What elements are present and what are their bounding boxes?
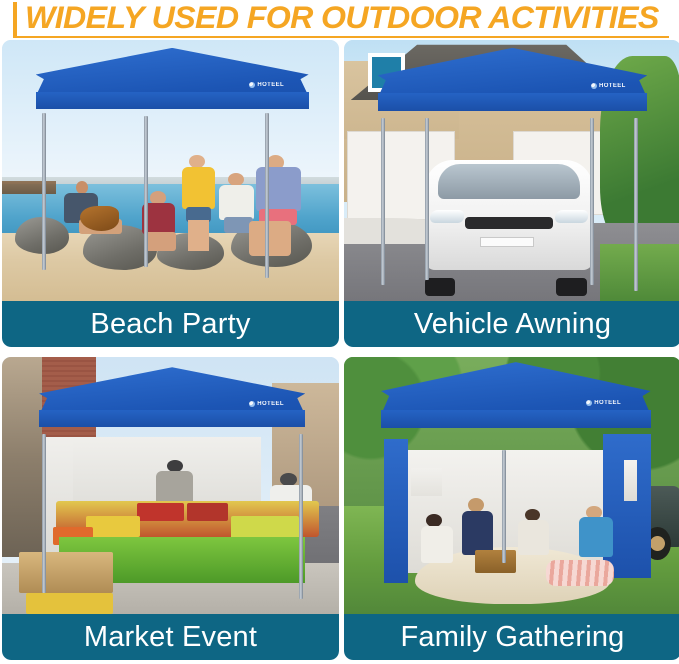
logo-text: HOTEEL <box>599 83 626 89</box>
headlight-left <box>430 210 464 222</box>
canopy-tent: HOTEEL <box>378 48 648 129</box>
page-title: WIDELY USED FOR OUTDOOR ACTIVITIES <box>25 0 659 35</box>
logo-mark-icon <box>586 400 592 406</box>
person-blue-shirt <box>248 155 315 270</box>
brand-logo: HOTEEL <box>586 400 621 406</box>
headlight-right <box>555 210 589 222</box>
brand-logo: HOTEEL <box>249 401 284 407</box>
brand-logo: HOTEEL <box>591 83 626 89</box>
logo-text: HOTEEL <box>594 400 621 406</box>
person-guitarist <box>59 181 133 265</box>
car <box>425 160 594 270</box>
lawn <box>600 244 679 301</box>
front-grille <box>465 217 553 229</box>
logo-text: HOTEEL <box>257 82 284 88</box>
brand-logo: HOTEEL <box>249 82 284 88</box>
canopy-center-pole <box>502 450 506 563</box>
canopy-valance <box>36 92 309 109</box>
canopy-valance <box>39 410 305 427</box>
produce-crate-floor <box>19 552 113 593</box>
canopy-leg <box>381 118 385 285</box>
panel-caption-family-gathering: Family Gathering <box>344 614 679 660</box>
striped-cushion <box>546 560 613 586</box>
canopy-tent: HOTEEL <box>39 367 305 444</box>
person-seated-middle <box>516 509 553 566</box>
panel-caption-market-event: Market Event <box>2 614 339 660</box>
logo-text: HOTEEL <box>257 401 284 407</box>
tire-left <box>425 278 455 296</box>
picnic-basket <box>475 550 515 573</box>
scene-beach-party: HOTEEL <box>2 40 339 301</box>
canopy-sidewall-left <box>384 439 408 583</box>
logo-mark-icon <box>591 83 597 89</box>
panel-vehicle-awning[interactable]: HOTEEL Vehicle Awning <box>344 40 679 347</box>
canopy-leg <box>590 118 594 285</box>
sidewall-zipper-panel <box>624 460 637 501</box>
product-feature-image: WIDELY USED FOR OUTDOOR ACTIVITIES <box>0 0 679 664</box>
license-plate <box>480 237 534 247</box>
panel-grid: HOTEEL Beach Party <box>0 40 679 664</box>
canopy-valance <box>378 93 648 111</box>
stacked-boxes <box>26 593 114 614</box>
canopy-leg <box>634 118 638 290</box>
canopy-leg <box>425 118 429 280</box>
canopy-leg <box>299 434 303 598</box>
logo-mark-icon <box>249 401 255 407</box>
canopy-tent: HOTEEL <box>381 362 651 447</box>
header-divider <box>13 36 669 38</box>
scene-family-gathering: HOTEEL <box>344 357 679 614</box>
canopy-leg <box>42 434 46 593</box>
wooden-pier <box>2 181 56 194</box>
tire-right <box>556 278 586 296</box>
windshield <box>438 164 580 199</box>
canopy-leg <box>265 113 269 277</box>
sidewall-window <box>411 468 441 496</box>
header-accent-bar <box>13 2 17 36</box>
produce-crate <box>86 516 140 537</box>
canopy-valance <box>381 410 651 429</box>
panel-family-gathering[interactable]: HOTEEL Family Gathering <box>344 357 679 660</box>
produce-crate <box>137 503 184 521</box>
scene-market-event: HOTEEL <box>2 357 339 614</box>
panel-caption-beach-party: Beach Party <box>2 301 339 347</box>
panel-caption-vehicle-awning: Vehicle Awning <box>344 301 679 347</box>
panel-beach-party[interactable]: HOTEEL Beach Party <box>2 40 339 347</box>
canopy-leg <box>144 116 148 267</box>
produce-crate <box>187 503 227 521</box>
person-seated-left <box>418 514 458 576</box>
canopy-leg <box>42 113 46 270</box>
logo-mark-icon <box>249 82 255 88</box>
header: WIDELY USED FOR OUTDOOR ACTIVITIES <box>0 0 679 40</box>
panel-market-event[interactable]: HOTEEL Market Event <box>2 357 339 660</box>
scene-vehicle-awning: HOTEEL <box>344 40 679 301</box>
